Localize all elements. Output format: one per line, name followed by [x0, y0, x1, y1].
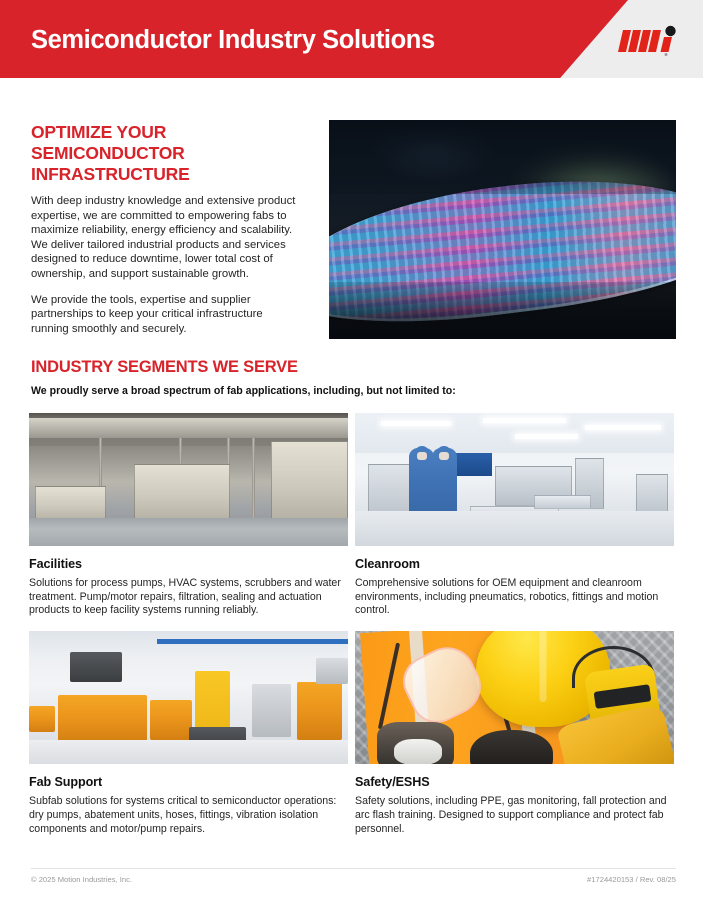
facilities-air-handler — [271, 441, 348, 523]
page-header: Semiconductor Industry Solutions — [0, 0, 703, 78]
intro-block: OPTIMIZE YOUR SEMICONDUCTOR INFRASTRUCTU… — [31, 122, 303, 336]
safety-card-text: Safety solutions, including PPE, gas mon… — [355, 795, 674, 836]
fab-support-card-title: Fab Support — [29, 775, 348, 789]
cleanroom-ceiling-light — [585, 425, 662, 430]
segment-card-safety-eshs: Safety/ESHS Safety solutions, including … — [355, 631, 674, 836]
motion-industries-mi-logo — [617, 24, 679, 58]
segments-heading: INDUSTRY SEGMENTS WE SERVE — [31, 358, 298, 377]
facilities-air-handler — [134, 464, 230, 524]
segment-cards-grid: Facilities Solutions for process pumps, … — [29, 413, 674, 836]
fab-support-machine — [297, 682, 342, 741]
intro-heading-line-2: SEMICONDUCTOR — [31, 143, 303, 164]
cleanroom-image — [355, 413, 674, 546]
cleanroom-table — [534, 495, 591, 508]
safety-image — [355, 631, 674, 764]
hero-image-bottom-shade — [329, 282, 676, 339]
fab-support-overhead-rail — [157, 639, 348, 644]
cleanroom-ceiling-light — [515, 434, 579, 439]
facilities-overhead-duct — [29, 418, 348, 438]
fab-support-machine — [150, 700, 191, 740]
intro-heading: OPTIMIZE YOUR SEMICONDUCTOR INFRASTRUCTU… — [31, 122, 303, 185]
page-title: Semiconductor Industry Solutions — [31, 26, 435, 55]
fab-support-machine — [29, 706, 55, 733]
footer-document-code: #1724420153 / Rev. 08/25 — [587, 875, 676, 884]
segment-card-cleanroom: Cleanroom Comprehensive solutions for OE… — [355, 413, 674, 618]
footer-copyright: © 2025 Motion Industries, Inc. — [31, 875, 132, 884]
fab-support-machine — [58, 695, 147, 743]
facilities-card-title: Facilities — [29, 557, 348, 571]
segment-card-fab-support: Fab Support Subfab solutions for systems… — [29, 631, 348, 836]
fab-support-machine — [252, 684, 290, 737]
fab-support-machine — [70, 652, 121, 681]
facilities-image — [29, 413, 348, 546]
cleanroom-card-title: Cleanroom — [355, 557, 674, 571]
cleanroom-ceiling-light — [381, 421, 451, 426]
intro-heading-line-1: OPTIMIZE YOUR — [31, 122, 303, 143]
safety-respirator — [377, 722, 454, 765]
hero-image-wafer — [329, 120, 676, 339]
safety-card-title: Safety/ESHS — [355, 775, 674, 789]
safety-hard-hat-ridge — [540, 631, 547, 702]
flyer-page: Semiconductor Industry Solutions OPTIMIZ… — [0, 0, 703, 909]
cleanroom-monitor — [451, 453, 492, 476]
facilities-floor — [29, 518, 348, 546]
segment-card-facilities: Facilities Solutions for process pumps, … — [29, 413, 348, 618]
intro-paragraph-1: With deep industry knowledge and extensi… — [31, 194, 303, 282]
cleanroom-card-text: Comprehensive solutions for OEM equipmen… — [355, 577, 674, 618]
intro-heading-line-3: INFRASTRUCTURE — [31, 164, 303, 185]
fab-support-floor — [29, 740, 348, 764]
hero-image-top-shade — [329, 120, 676, 194]
intro-paragraph-2: We provide the tools, expertise and supp… — [31, 293, 303, 337]
segments-subheading: We proudly serve a broad spectrum of fab… — [31, 385, 456, 397]
cleanroom-floor — [355, 511, 674, 546]
cleanroom-technician-mask — [417, 452, 427, 460]
footer-divider — [31, 868, 676, 869]
cleanroom-ceiling-light — [483, 418, 566, 423]
fab-support-machine — [316, 658, 348, 685]
fab-support-card-text: Subfab solutions for systems critical to… — [29, 795, 348, 836]
fab-support-image — [29, 631, 348, 764]
facilities-card-text: Solutions for process pumps, HVAC system… — [29, 577, 348, 618]
cleanroom-technician-mask — [439, 452, 449, 460]
